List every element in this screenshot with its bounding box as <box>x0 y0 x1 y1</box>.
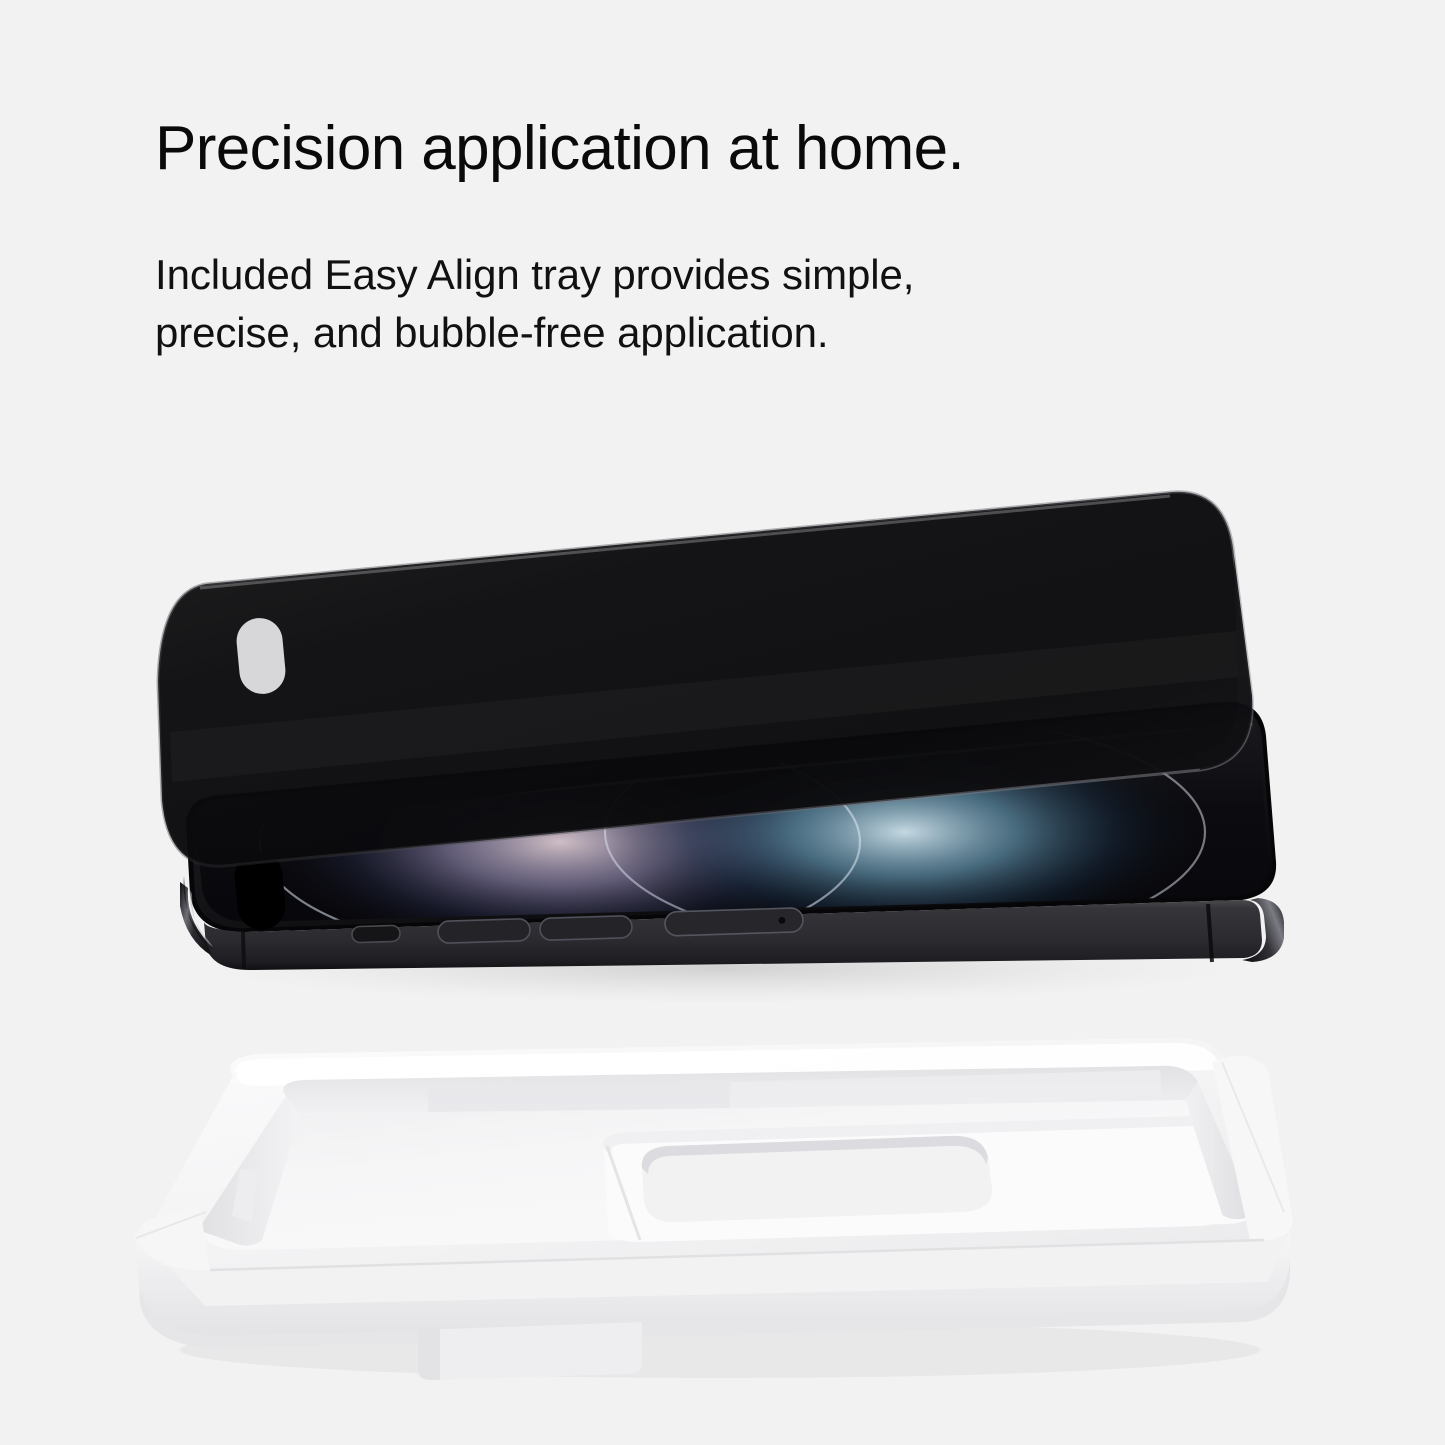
volume-up-button <box>438 919 531 944</box>
mute-switch <box>352 925 400 942</box>
camera-notch-cutout <box>642 1136 992 1222</box>
page-subtitle-line-1: Included Easy Align tray provides simple… <box>155 246 1075 304</box>
volume-down-button <box>540 916 633 941</box>
marketing-copy-block: Precision application at home. Included … <box>155 118 1255 362</box>
page-title: Precision application at home. <box>155 118 1255 180</box>
page-subtitle: Included Easy Align tray provides simple… <box>155 246 1075 362</box>
product-illustration <box>0 470 1445 1420</box>
easy-align-tray <box>135 1038 1293 1380</box>
page-subtitle-line-2: precise, and bubble-free application. <box>155 304 1075 362</box>
antenna-band-left <box>243 932 244 969</box>
tray-front-tab <box>418 1322 642 1380</box>
page-root: Precision application at home. Included … <box>0 0 1445 1445</box>
